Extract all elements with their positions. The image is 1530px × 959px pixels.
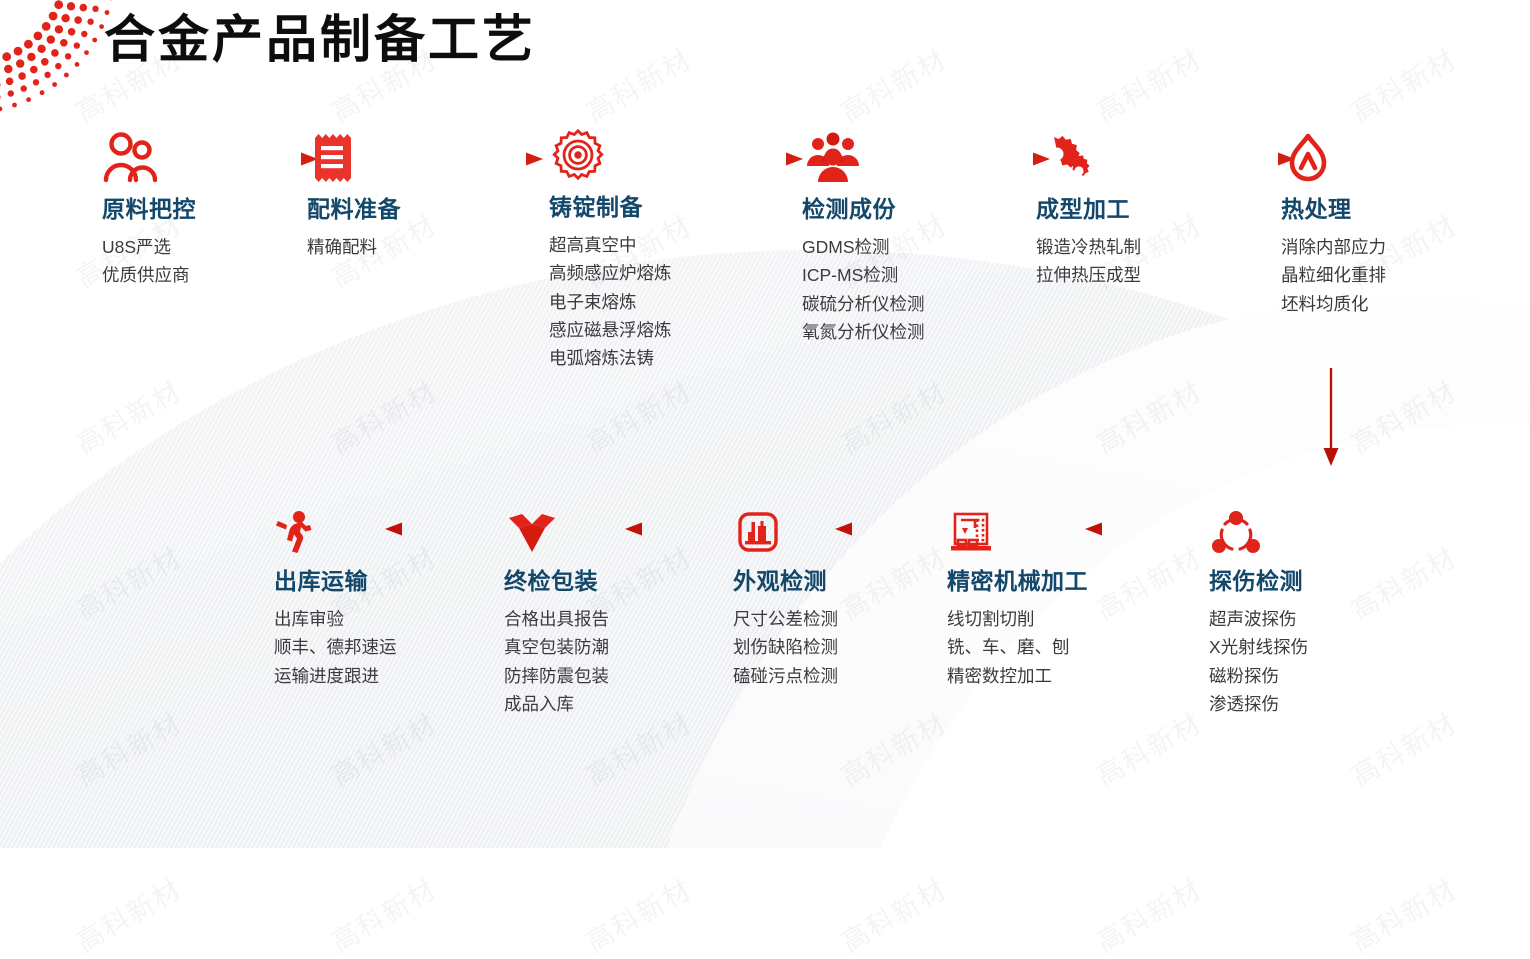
arrow-step8-to-step9 [835,520,950,538]
step-appearance-inspection[interactable]: 外观检测 尺寸公差检测 划伤缺陷检测 磕碰污点检测 [733,500,838,690]
watermark-text: 高科新材 [578,369,698,461]
step-title: 配料准备 [307,190,401,224]
step-detail-list: 线切割切削 铣、车、磨、刨 精密数控加工 [947,605,1088,690]
step-title: 终检包装 [504,562,609,596]
watermark-text: 高科新材 [1343,701,1463,793]
step-detail-list: 超高真空中 高频感应炉熔炼 电子束熔炼 感应磁悬浮熔炼 电弧熔炼法铸 [549,231,672,373]
step-detail-list: GDMS检测 ICP-MS检测 碳硫分析仪检测 氧氮分析仪检测 [802,233,925,346]
watermark-text: 高科新材 [1343,37,1463,129]
watermark-text: 高科新材 [578,37,698,129]
step-detail-list: 尺寸公差检测 划伤缺陷检测 磕碰污点检测 [733,605,838,690]
watermark-text: 高科新材 [1088,37,1208,129]
watermark-text: 高科新材 [833,867,953,959]
step-detail-list: 超声波探伤 X光射线探伤 磁粉探伤 渗透探伤 [1209,605,1308,718]
arrow-step5-to-step6 [1180,150,1295,168]
step-detail-line: 尺寸公差检测 [733,605,838,633]
receipt-document-icon [307,128,401,184]
step-detail-line: 真空包装防潮 [504,633,609,661]
step-detail-line: 出库审验 [274,605,397,633]
step-detail-line: 氧氮分析仪检测 [802,318,925,346]
people-icon [102,128,196,184]
step-forming-processing[interactable]: 成型加工 锻造冷热轧制 拉伸热压成型 [1036,128,1141,290]
step-detail-line: 优质供应商 [102,261,196,289]
step-composition-testing[interactable]: 检测成份 GDMS检测 ICP-MS检测 碳硫分析仪检测 氧氮分析仪检测 [802,128,925,346]
arrow-step4-to-step5 [935,150,1050,168]
step-detail-line: 锻造冷热轧制 [1036,233,1141,261]
watermark-text: 高科新材 [1088,535,1208,627]
arrow-step2-to-step3 [428,150,543,168]
step-detail-line: 划伤缺陷检测 [733,633,838,661]
step-precision-machining[interactable]: 精密机械加工 线切割切削 铣、车、磨、刨 精密数控加工 [947,500,1088,690]
step-title: 出库运输 [274,562,397,596]
step-detail-line: 精密数控加工 [947,662,1088,690]
watermark-text: 高科新材 [1343,369,1463,461]
step-detail-line: ICP-MS检测 [802,261,925,289]
double-gear-icon [1036,128,1141,184]
step-detail-line: 渗透探伤 [1209,690,1308,718]
step-title: 探伤检测 [1209,562,1308,596]
step-detail-line: 消除内部应力 [1281,233,1386,261]
step-detail-list: 锻造冷热轧制 拉伸热压成型 [1036,233,1141,290]
step-detail-line: 磕碰污点检测 [733,662,838,690]
step-detail-line: 电弧熔炼法铸 [549,344,672,372]
step-detail-list: 精确配料 [307,233,401,261]
step-title: 热处理 [1281,190,1386,224]
step-title: 外观检测 [733,562,838,596]
step-detail-line: 成品入库 [504,690,609,718]
watermark-text: 高科新材 [323,867,443,959]
step-detail-line: 碳硫分析仪检测 [802,290,925,318]
watermark-text: 高科新材 [323,369,443,461]
open-box-icon [504,500,609,556]
step-outbound-transport[interactable]: 出库运输 出库审验 顺丰、德邦速运 运输进度跟进 [274,500,397,690]
watermark-text: 高科新材 [68,701,188,793]
people-group-icon [802,128,925,184]
arrow-step7-to-step8 [1085,520,1200,538]
step-detail-line: 拉伸热压成型 [1036,261,1141,289]
step-flaw-detection[interactable]: 探伤检测 超声波探伤 X光射线探伤 磁粉探伤 渗透探伤 [1209,500,1308,718]
step-detail-line: 晶粒细化重排 [1281,261,1386,289]
step-batching-preparation[interactable]: 配料准备 精确配料 [307,128,401,261]
step-detail-line: 电子束熔炼 [549,288,672,316]
arrow-step10-to-step11 [385,520,500,538]
step-title: 检测成份 [802,190,925,224]
arrow-step9-to-step10 [625,520,740,538]
step-detail-line: 磁粉探伤 [1209,662,1308,690]
watermark-text: 高科新材 [68,867,188,959]
step-detail-line: 运输进度跟进 [274,662,397,690]
step-detail-line: X光射线探伤 [1209,633,1308,661]
step-detail-line: U8S严选 [102,233,196,261]
flame-icon [1281,128,1386,184]
three-nodes-icon [1209,500,1308,556]
step-title: 原料把控 [102,190,196,224]
cnc-machine-icon [947,500,1088,556]
watermark-text: 高科新材 [1343,867,1463,959]
step-title: 铸锭制备 [549,188,672,222]
step-detail-line: 超高真空中 [549,231,672,259]
watermark-text: 高科新材 [833,37,953,129]
watermark-text: 高科新材 [1088,369,1208,461]
watermark-text: 高科新材 [1343,535,1463,627]
step-detail-line: 感应磁悬浮熔炼 [549,316,672,344]
step-detail-line: 线切割切削 [947,605,1088,633]
watermark-text: 高科新材 [1088,701,1208,793]
watermark-text: 高科新材 [833,369,953,461]
step-detail-list: 消除内部应力 晶粒细化重排 坯料均质化 [1281,233,1386,318]
page-title: 合金产品制备工艺 [104,8,536,72]
watermark-text: 高科新材 [833,535,953,627]
step-ingot-preparation[interactable]: 铸锭制备 超高真空中 高频感应炉熔炼 电子束熔炼 感应磁悬浮熔炼 电弧熔炼法铸 [549,126,672,373]
step-detail-line: GDMS检测 [802,233,925,261]
step-detail-line: 防摔防震包装 [504,662,609,690]
step-detail-line: 高频感应炉熔炼 [549,259,672,287]
step-heat-treatment[interactable]: 热处理 消除内部应力 晶粒细化重排 坯料均质化 [1281,128,1386,318]
walking-person-icon [274,500,397,556]
watermark-text: 高科新材 [1088,867,1208,959]
step-detail-list: 出库审验 顺丰、德邦速运 运输进度跟进 [274,605,397,690]
step-title: 精密机械加工 [947,562,1088,596]
step-title: 成型加工 [1036,190,1141,224]
step-detail-line: 超声波探伤 [1209,605,1308,633]
step-detail-line: 坯料均质化 [1281,290,1386,318]
arrow-step1-to-step2 [203,150,318,168]
step-detail-line: 精确配料 [307,233,401,261]
step-detail-line: 顺丰、德邦速运 [274,633,397,661]
watermark-text: 高科新材 [833,701,953,793]
factory-square-icon [733,500,838,556]
watermark-text: 高科新材 [323,701,443,793]
step-detail-line: 合格出具报告 [504,605,609,633]
arrow-step3-to-step4 [688,150,803,168]
watermark-text: 高科新材 [68,369,188,461]
step-detail-line: 铣、车、磨、刨 [947,633,1088,661]
watermark-text: 高科新材 [68,535,188,627]
step-final-inspection-packaging[interactable]: 终检包装 合格出具报告 真空包装防潮 防摔防震包装 成品入库 [504,500,609,718]
step-detail-list: 合格出具报告 真空包装防潮 防摔防震包装 成品入库 [504,605,609,718]
watermark-text: 高科新材 [578,867,698,959]
step-detail-list: U8S严选 优质供应商 [102,233,196,290]
arrow-step6-to-step7-vertical [1318,368,1344,473]
gear-target-icon [549,126,672,182]
step-raw-material-control[interactable]: 原料把控 U8S严选 优质供应商 [102,128,196,290]
